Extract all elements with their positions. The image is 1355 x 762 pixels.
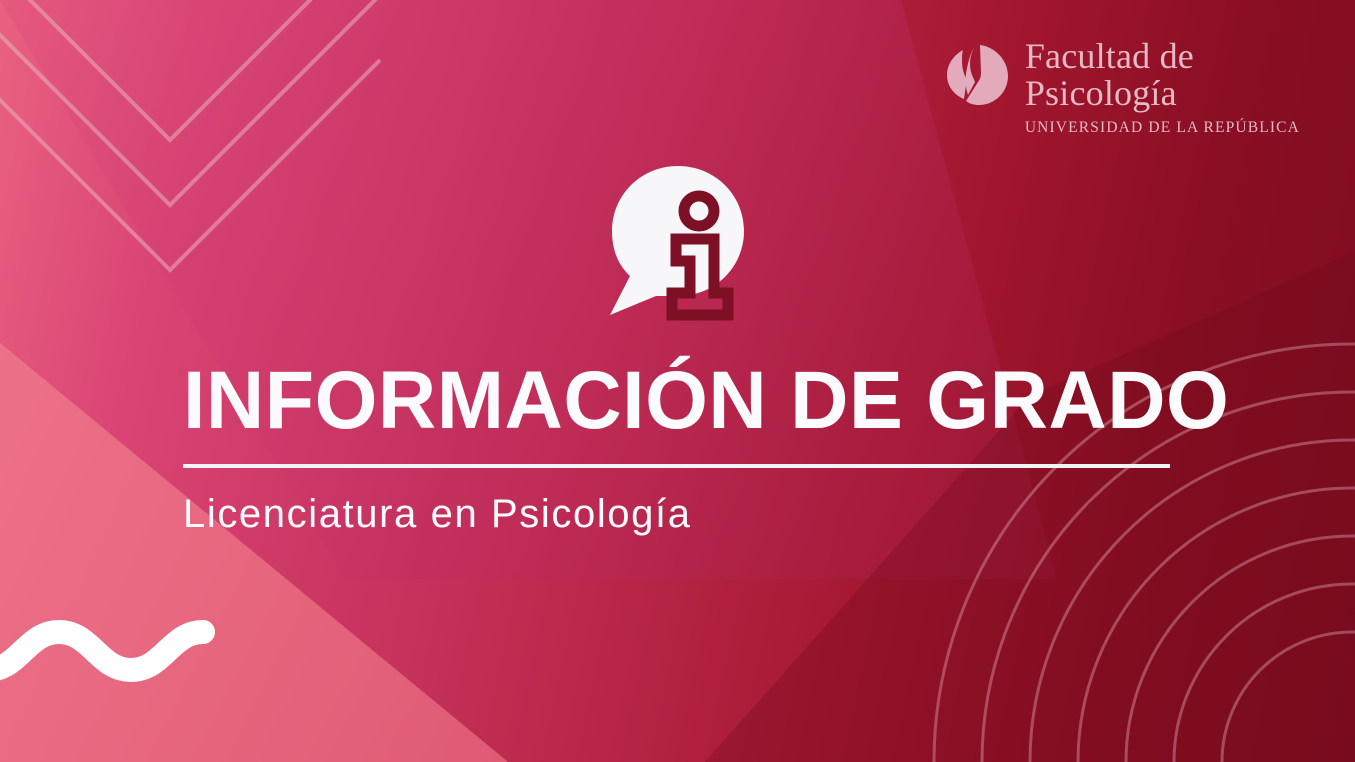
headline-block: INFORMACIÓN DE GRADO Licenciatura en Psi… (183, 358, 1178, 538)
institution-logo: Facultad de Psicología UNIVERSIDAD DE LA… (944, 38, 1300, 137)
information-speech-bubble-icon (602, 163, 748, 328)
page-title: INFORMACIÓN DE GRADO (183, 358, 1163, 444)
logo-institution: UNIVERSIDAD DE LA REPÚBLICA (1025, 119, 1300, 137)
logo-line-1: Facultad de (1025, 38, 1300, 75)
facultad-psicologia-logo-mark (944, 42, 1010, 108)
logo-line-2: Psicología (1025, 75, 1300, 112)
page-subtitle: Licenciatura en Psicología (183, 490, 1178, 538)
title-divider (183, 464, 1170, 468)
slide-canvas: Facultad de Psicología UNIVERSIDAD DE LA… (0, 0, 1355, 762)
